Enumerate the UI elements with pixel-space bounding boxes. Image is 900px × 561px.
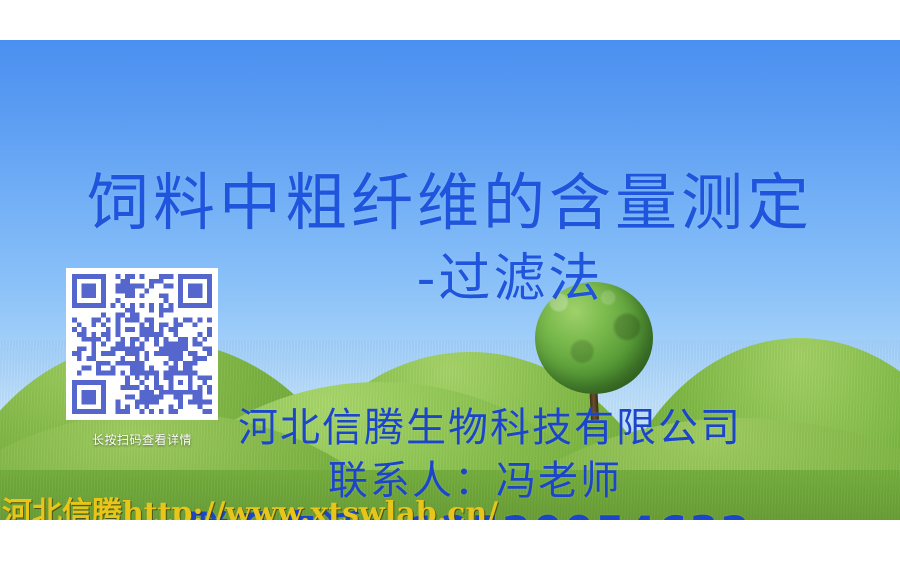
page-root: 长按扫码查看详情 饲料中粗纤维的含量测定 -过滤法 河北信腾生物科技有限公司 联…: [0, 0, 900, 561]
video-title-line2: -过滤法: [0, 236, 900, 311]
video-frame: 长按扫码查看详情 饲料中粗纤维的含量测定 -过滤法 河北信腾生物科技有限公司 联…: [0, 40, 900, 520]
company-name: 河北信腾生物科技有限公司: [0, 395, 900, 453]
video-title-line1: 饲料中粗纤维的含量测定: [0, 152, 900, 242]
video-player[interactable]: 长按扫码查看详情 饲料中粗纤维的含量测定 -过滤法 河北信腾生物科技有限公司 联…: [0, 40, 900, 520]
site-watermark: 河北信腾http://www.xtswlab.cn/: [2, 488, 498, 520]
